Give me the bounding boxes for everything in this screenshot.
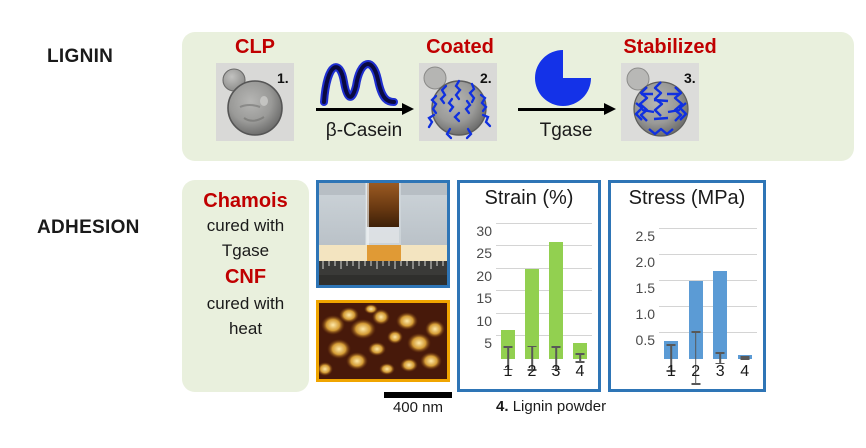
reagent-label-casein: β-Casein: [314, 120, 414, 142]
step-number-2: 2.: [480, 70, 492, 86]
bar: [689, 281, 703, 359]
bar-slot: [499, 219, 517, 359]
adhesion-label-cured-with-2: cured with: [182, 294, 309, 313]
bar-slot: [711, 219, 729, 359]
error-bar-cap-top: [716, 352, 725, 354]
arrow-head: [604, 103, 616, 115]
row-label-lignin: LIGNIN: [47, 46, 113, 68]
bars-container: [496, 219, 592, 359]
bar-slot: [547, 219, 565, 359]
x-axis-tick-label: 1: [499, 363, 517, 381]
bar: [501, 330, 515, 359]
x-axis-tick-label: 2: [523, 363, 541, 381]
arrow-head: [402, 103, 414, 115]
x-axis-tick-label: 4: [571, 363, 589, 381]
step-title-clp: CLP: [200, 36, 310, 59]
step-title-coated: Coated: [400, 36, 520, 59]
plot-area-stress: 0.51.01.52.02.5: [659, 219, 757, 359]
error-bar-cap-top: [528, 346, 537, 348]
bar-slot: [736, 219, 754, 359]
x-axis-tick-label: 3: [711, 363, 729, 381]
bar: [573, 343, 587, 359]
chart-stress: Stress (MPa) 0.51.01.52.02.5 1234: [608, 180, 766, 392]
chart-title-stress: Stress (MPa): [611, 187, 763, 210]
tgase-enzyme-icon: [534, 50, 592, 106]
adhesion-label-cnf: CNF: [182, 266, 309, 288]
bar-slot: [571, 219, 589, 359]
chart-title-strain: Strain (%): [460, 187, 598, 210]
error-bar-cap-top: [552, 346, 561, 348]
error-bar-cap-bottom: [740, 358, 749, 360]
footnote-number: 4.: [496, 398, 509, 415]
error-bar-cap-top: [576, 353, 585, 355]
reagent-label-tgase: Tgase: [516, 120, 616, 142]
x-axis-tick-label: 2: [687, 363, 705, 381]
arrow-shaft: [316, 108, 410, 111]
bar-slot: [687, 219, 705, 359]
bar: [664, 341, 678, 359]
scale-bar: [384, 392, 452, 398]
step-number-1: 1.: [277, 70, 289, 86]
afm-height-image: [316, 300, 450, 382]
arrow-tgase: Tgase: [516, 58, 616, 153]
chart-strain: Strain (%) 51015202530 1234: [457, 180, 601, 392]
error-bar-cap-bottom: [691, 383, 700, 385]
bar: [549, 242, 563, 359]
lignin-adhesive-vial-photo: 12 34 5: [316, 180, 450, 288]
bar: [738, 355, 752, 359]
error-bar-cap-top: [667, 344, 676, 346]
arrow-beta-casein: β-Casein: [314, 58, 414, 153]
bars-container: [659, 219, 757, 359]
adhesion-label-chamois: Chamois: [182, 190, 309, 212]
x-axis-tick-label: 3: [547, 363, 565, 381]
error-bar-cap-top: [504, 346, 513, 348]
x-axis-tick-label: 1: [662, 363, 680, 381]
graphical-abstract: LIGNIN ADHESION CLP Coated Stabilized: [0, 0, 866, 448]
arrow-shaft: [518, 108, 612, 111]
plot-area-strain: 51015202530: [496, 219, 592, 359]
adhesion-label-heat: heat: [182, 319, 309, 338]
beta-casein-wave-icon: [318, 52, 410, 107]
bar: [713, 271, 727, 359]
footnote-text: Lignin powder: [513, 398, 606, 415]
adhesion-label-tgase: Tgase: [182, 241, 309, 260]
footnote-lignin-powder: 4. Lignin powder: [496, 398, 756, 415]
x-axis-tick-label: 4: [736, 363, 754, 381]
x-axis-strain: 1234: [496, 363, 592, 381]
step-number-3: 3.: [684, 70, 696, 86]
bar-slot: [662, 219, 680, 359]
adhesion-label-cured-with-1: cured with: [182, 216, 309, 235]
error-bar-cap-top: [691, 331, 700, 333]
scale-bar-label: 400 nm: [358, 399, 478, 416]
bar: [525, 269, 539, 359]
row-label-adhesion: ADHESION: [37, 217, 140, 239]
bar-slot: [523, 219, 541, 359]
step-title-stabilized: Stabilized: [590, 36, 750, 59]
x-axis-stress: 1234: [659, 363, 757, 381]
